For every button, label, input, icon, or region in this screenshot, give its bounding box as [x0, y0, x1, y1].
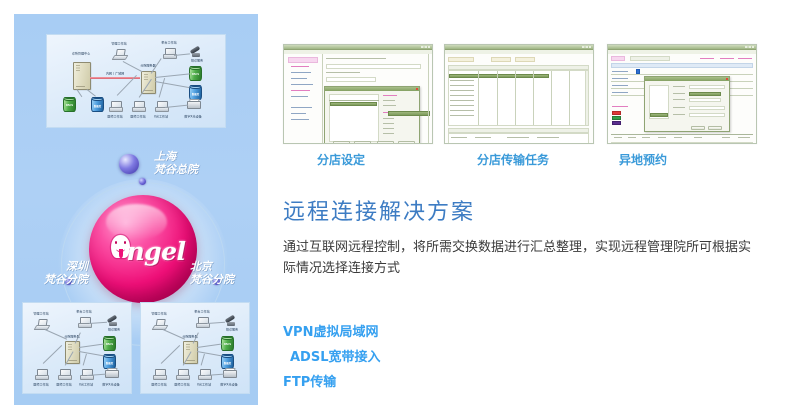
list-item[interactable]: ADSL宽带接入 — [283, 345, 381, 370]
doctor-workstation-label: 医师工作站 — [130, 114, 145, 119]
database-tag: 数据库 — [104, 360, 116, 364]
pacs-tag: PACS — [104, 342, 116, 345]
database-storage-icon: 数据库 — [91, 97, 104, 112]
solution-options-list: VPN虚拟局域网 ADSL宽带接入 FTP传输 — [283, 320, 381, 395]
counter-workstation-label: 柜台工作站 — [161, 40, 176, 45]
site-label-shenzhen-line1: 深圳 — [20, 260, 88, 273]
xray-workstation-label: X光工作站 — [79, 382, 93, 387]
digital-xray-label: 数字X光设备 — [102, 382, 119, 387]
doctor-workstation-icon — [132, 101, 144, 112]
window-body — [445, 54, 593, 143]
screenshot-thumbnail-transfer-task[interactable] — [444, 44, 594, 144]
screenshot-caption-settings: 分店设定 — [317, 151, 365, 168]
selected-row — [449, 74, 549, 78]
doctor-workstation-label: 医师工作站 — [56, 382, 71, 387]
window-body — [284, 54, 432, 143]
doctor-workstation-icon — [109, 101, 121, 112]
connector-line — [174, 53, 190, 55]
pacs-tag: PACS — [222, 342, 234, 345]
digital-xray-device-icon — [223, 368, 235, 378]
doctor-workstation-label: 医师工作站 — [33, 382, 48, 387]
site-label-beijing-line1: 北京 — [190, 260, 234, 273]
call-service-phone-icon — [225, 316, 236, 326]
logo-sheen — [106, 204, 166, 241]
xray-workstation-label: X光工作站 — [154, 114, 168, 119]
admin-workstation-label: 管理工作站 — [151, 311, 166, 316]
site-node-hq-marker — [119, 154, 139, 174]
site-label-hq: 上海 梵谷总院 — [154, 150, 198, 176]
connector-line — [87, 89, 96, 96]
call-service-phone-icon — [107, 316, 118, 326]
calendar-header — [611, 63, 753, 68]
window-body — [608, 54, 756, 143]
site-label-beijing: 北京 梵谷分院 — [190, 260, 234, 286]
connector-line — [77, 89, 83, 97]
call-service-label: 招诊服务 — [191, 58, 203, 63]
doctor-workstation-label: 医师工作站 — [107, 114, 122, 119]
doctor-workstation-icon — [153, 369, 165, 380]
site-label-hq-line1: 上海 — [154, 150, 198, 163]
database-storage-icon: 数据库 — [189, 85, 202, 100]
logo-wordmark: ngel — [89, 237, 197, 266]
management-center-server-icon — [73, 62, 91, 90]
xray-workstation-label: X光工作站 — [197, 382, 211, 387]
list-item[interactable]: FTP传输 — [283, 370, 381, 395]
counter-workstation-label: 柜台工作站 — [76, 309, 91, 314]
wan-link-label: 内网 / 广域网 — [106, 71, 124, 76]
admin-workstation-label: 管理工作站 — [111, 41, 126, 46]
pacs-storage-icon: PACS — [189, 66, 202, 81]
branch-network-diagram-shenzhen: 管理工作站 柜台工作站 招诊服务 分院服务器 PACS 数据库 医师工作站 医师… — [22, 302, 132, 394]
call-service-phone-icon — [190, 47, 201, 57]
site-label-shenzhen-line2: 梵谷分院 — [20, 273, 88, 286]
digital-xray-device-icon — [105, 368, 117, 378]
doctor-workstation-icon — [176, 369, 188, 380]
pacs-storage-icon: PACS — [103, 336, 116, 351]
pacs-tag: PACS — [64, 103, 76, 106]
database-storage-icon: 数据库 — [103, 354, 116, 369]
network-topology-panel: 诊所管理中心 PACS 数据库 分院服务器 内网 / 广域网 管理工作站 柜台工… — [14, 14, 258, 405]
screenshot-caption-appointment: 异地预约 — [619, 151, 667, 168]
pacs-storage-icon: PACS — [63, 97, 76, 112]
screenshot-thumbnail-appointment[interactable] — [607, 44, 757, 144]
admin-workstation-icon — [113, 49, 125, 60]
site-label-shenzhen: 深圳 梵谷分院 — [20, 260, 88, 286]
page-title: 远程连接解决方案 — [283, 194, 475, 226]
management-center-label: 诊所管理中心 — [72, 51, 90, 56]
screenshot-thumbnail-settings[interactable] — [283, 44, 433, 144]
connector-line — [155, 73, 190, 77]
doctor-workstation-icon — [35, 369, 47, 380]
connector-line — [155, 81, 190, 88]
modal-dialog[interactable] — [644, 76, 730, 132]
digital-xray-label: 数字X光设备 — [184, 114, 201, 119]
database-tag: 数据库 — [222, 360, 234, 364]
connector-line — [165, 105, 188, 108]
orbit-node-top — [139, 178, 146, 185]
doctor-workstation-label: 医师工作站 — [174, 382, 189, 387]
counter-workstation-label: 柜台工作站 — [194, 309, 209, 314]
database-tag: 数据库 — [190, 91, 202, 95]
call-service-label: 招诊服务 — [226, 327, 238, 332]
scrollbar[interactable] — [585, 70, 589, 126]
counter-workstation-icon — [163, 48, 175, 59]
page-root: 诊所管理中心 PACS 数据库 分院服务器 内网 / 广域网 管理工作站 柜台工… — [0, 0, 800, 411]
doctor-workstation-icon — [58, 369, 70, 380]
description-paragraph: 通过互联网远程控制，将所需交换数据进行汇总整理，实现远程管理院所可根据实际情况选… — [283, 237, 753, 279]
digital-xray-device-icon — [187, 99, 199, 109]
list-item[interactable]: VPN虚拟局域网 — [283, 320, 381, 345]
database-storage-icon: 数据库 — [221, 354, 234, 369]
pacs-storage-icon: PACS — [221, 336, 234, 351]
screenshot-caption-transfer-task: 分店传输任务 — [477, 151, 549, 168]
branch-network-diagram-beijing: 管理工作站 柜台工作站 招诊服务 分院服务器 PACS 数据库 医师工作站 医师… — [140, 302, 250, 394]
site-label-beijing-line2: 梵谷分院 — [190, 273, 234, 286]
pacs-tag: PACS — [190, 72, 202, 75]
digital-xray-label: 数字X光设备 — [220, 382, 237, 387]
doctor-workstation-label: 医师工作站 — [151, 382, 166, 387]
call-service-label: 招诊服务 — [108, 327, 120, 332]
angel-logo-ball: ngel — [89, 195, 197, 303]
database-tag: 数据库 — [92, 103, 104, 107]
headquarters-network-diagram: 诊所管理中心 PACS 数据库 分院服务器 内网 / 广域网 管理工作站 柜台工… — [46, 34, 226, 128]
site-label-hq-line2: 梵谷总院 — [154, 163, 198, 176]
admin-workstation-label: 管理工作站 — [33, 311, 48, 316]
